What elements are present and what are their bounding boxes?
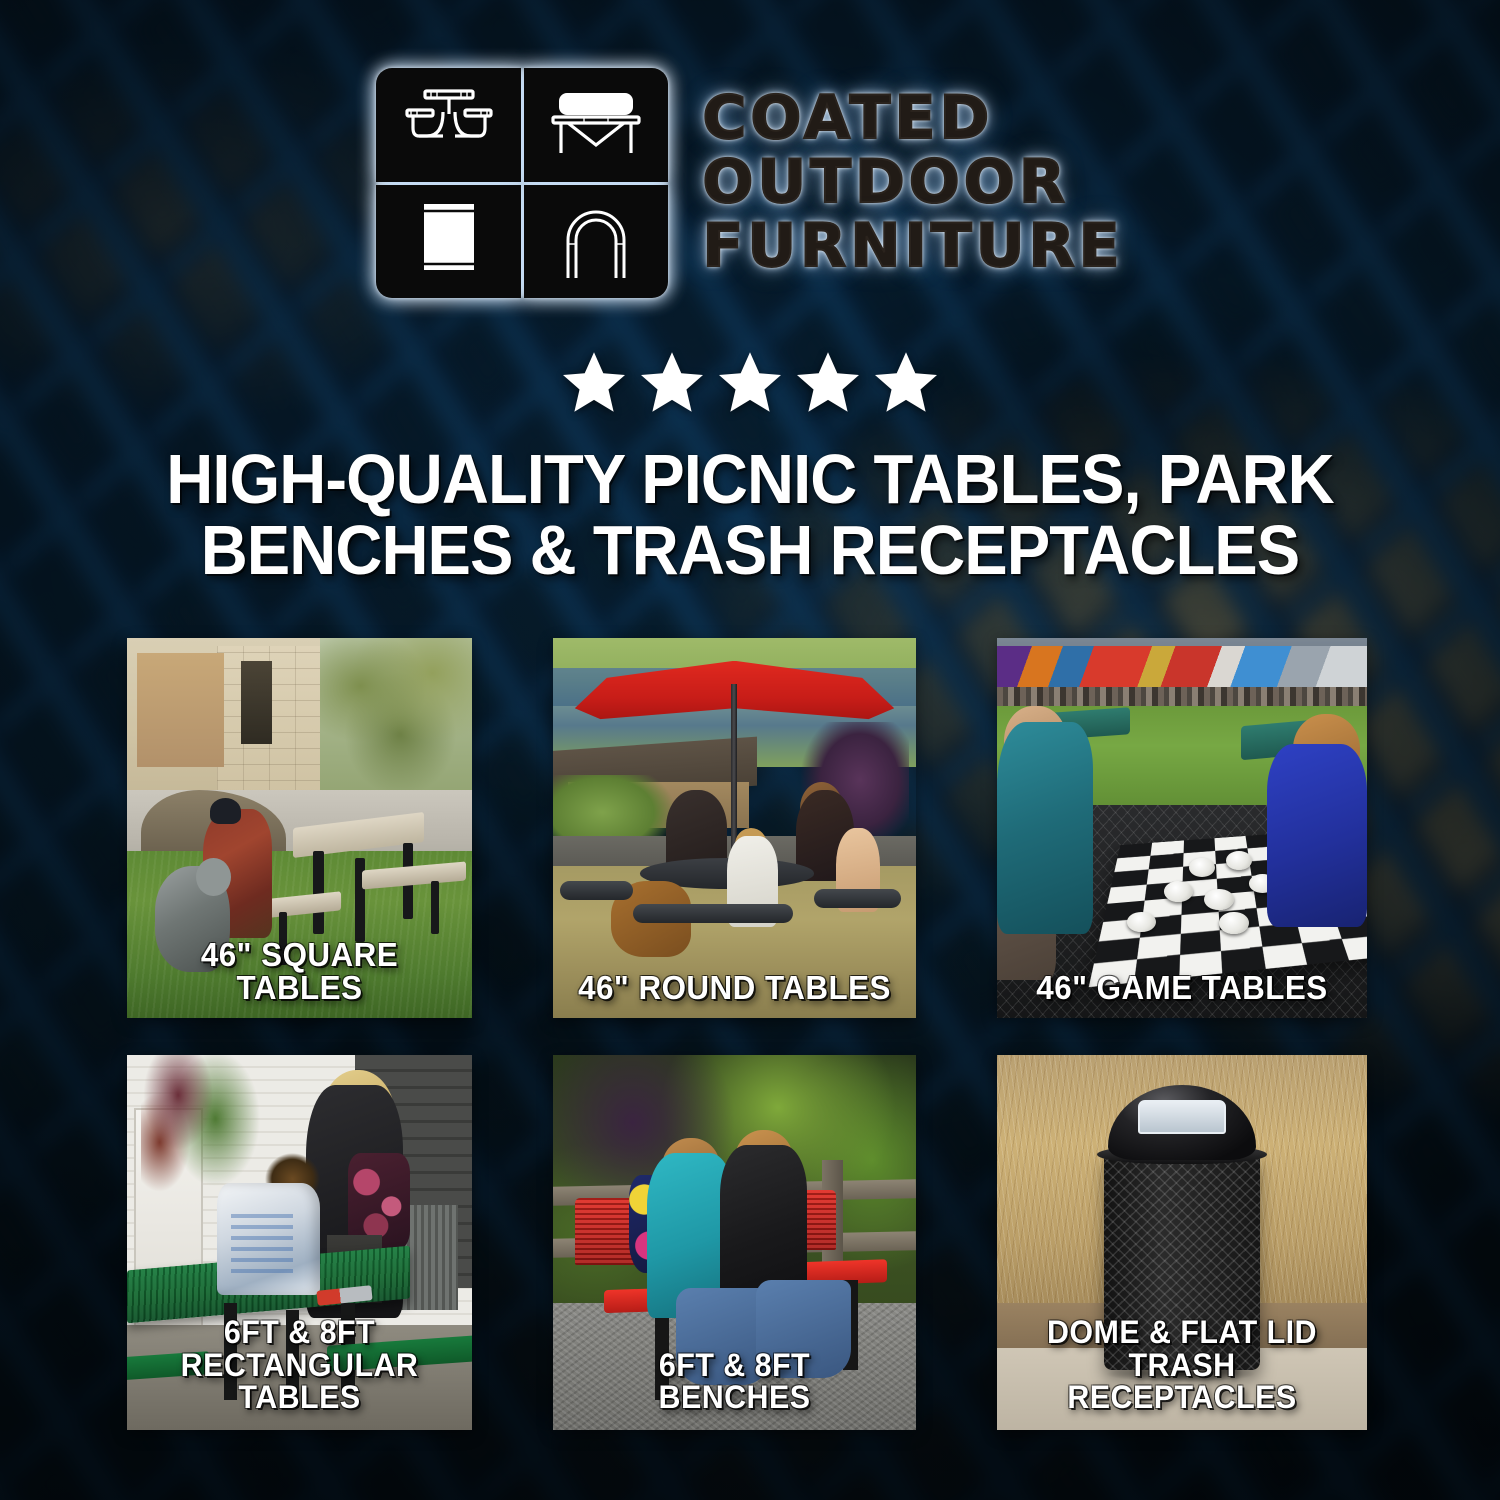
headline: HIGH-QUALITY PICNIC TABLES, PARK BENCHES… xyxy=(108,444,1391,587)
product-tile-round-tables[interactable]: 46" ROUND TABLES xyxy=(553,638,916,1018)
caption-line-1: DOME & FLAT LID xyxy=(1012,1316,1352,1349)
star-icon xyxy=(563,352,625,412)
picnic-table-icon xyxy=(376,68,521,182)
bench-table-icon xyxy=(524,68,669,182)
product-tile-square-tables[interactable]: 46" SQUARE TABLES xyxy=(127,638,472,1018)
logo-icon-grid xyxy=(376,68,668,298)
star-icon xyxy=(719,352,781,412)
star-rating xyxy=(0,352,1500,412)
product-photo-game-tables xyxy=(997,638,1367,1018)
product-tile-rectangular-tables[interactable]: 6FT & 8FT RECTANGULAR TABLES xyxy=(127,1055,472,1430)
star-icon xyxy=(875,352,937,412)
trash-receptacle-icon xyxy=(376,185,521,299)
caption-line-1: 46" ROUND TABLES xyxy=(568,971,901,1004)
bike-rack-icon xyxy=(524,185,669,299)
caption-line-1: 46" SQUARE TABLES xyxy=(141,938,457,1004)
product-tile-trash-receptacles[interactable]: DOME & FLAT LID TRASH RECEPTACLES xyxy=(997,1055,1367,1430)
caption-line-1: 46" GAME TABLES xyxy=(1012,971,1352,1004)
brand-wordmark: COATED OUTDOOR FURNITURE xyxy=(702,88,1123,277)
brand-name-line-1: COATED xyxy=(702,88,1123,150)
headline-line-2: BENCHES & TRASH RECEPTACLES xyxy=(108,515,1391,586)
brand-logo: COATED OUTDOOR FURNITURE xyxy=(0,68,1500,298)
caption-line-1: 6FT & 8FT xyxy=(141,1316,457,1349)
caption-line-2: RECTANGULAR TABLES xyxy=(141,1349,457,1414)
caption-line-1: 6FT & 8FT xyxy=(568,1349,901,1382)
product-caption-rectangular-tables: 6FT & 8FT RECTANGULAR TABLES xyxy=(141,1316,457,1414)
star-icon xyxy=(797,352,859,412)
product-caption-square-tables: 46" SQUARE TABLES xyxy=(141,938,457,1004)
product-tile-game-tables[interactable]: 46" GAME TABLES xyxy=(997,638,1367,1018)
headline-line-1: HIGH-QUALITY PICNIC TABLES, PARK xyxy=(108,444,1391,515)
brand-name-line-2: OUTDOOR xyxy=(702,152,1123,214)
caption-line-2: BENCHES xyxy=(568,1381,901,1414)
caption-line-2: TRASH RECEPTACLES xyxy=(1012,1349,1352,1414)
promo-poster: COATED OUTDOOR FURNITURE HIGH-QUALITY PI… xyxy=(0,0,1500,1500)
star-icon xyxy=(641,352,703,412)
product-caption-trash-receptacles: DOME & FLAT LID TRASH RECEPTACLES xyxy=(1012,1316,1352,1414)
product-caption-benches: 6FT & 8FT BENCHES xyxy=(568,1349,901,1414)
product-grid: 46" SQUARE TABLES xyxy=(127,638,1371,1430)
brand-name-line-3: FURNITURE xyxy=(702,216,1123,278)
product-caption-game-tables: 46" GAME TABLES xyxy=(1012,971,1352,1004)
product-tile-benches[interactable]: 6FT & 8FT BENCHES xyxy=(553,1055,916,1430)
product-caption-round-tables: 46" ROUND TABLES xyxy=(568,971,901,1004)
product-photo-round-tables xyxy=(553,638,916,1018)
